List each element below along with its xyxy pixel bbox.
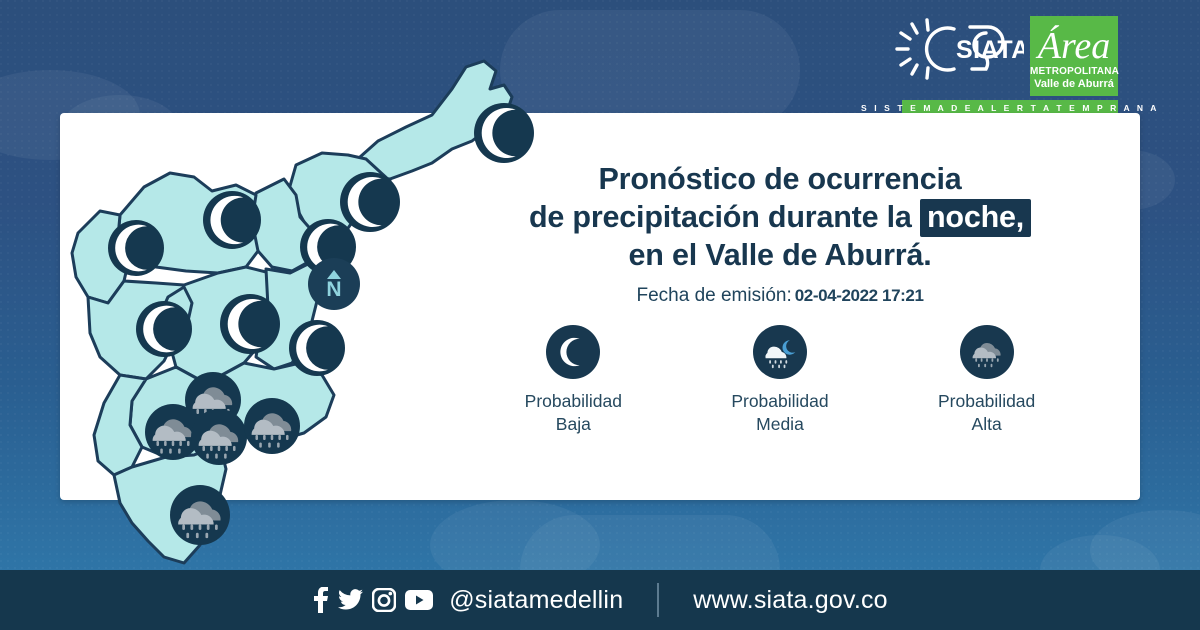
issue-date-row: Fecha de emisión:02-04-2022 17:21 bbox=[470, 285, 1090, 307]
cloud-heavy-rain-icon bbox=[244, 398, 300, 454]
legend-icon-baja bbox=[546, 325, 600, 379]
cloud-rain-moon-icon bbox=[760, 334, 800, 370]
map-marker-guarne[interactable] bbox=[289, 320, 345, 376]
facebook-icon[interactable] bbox=[312, 587, 329, 613]
cloud-heavy-rain-icon bbox=[170, 485, 230, 545]
area-script-icon: Área bbox=[1030, 18, 1118, 70]
area-line1: METROPOLITANA bbox=[1030, 66, 1118, 77]
title-highlight-noche: noche, bbox=[920, 199, 1031, 237]
background-cloud-icon bbox=[500, 10, 800, 130]
legend-label-media: Probabilidad Media bbox=[731, 390, 828, 436]
legend-label-baja-line1: Probabilidad bbox=[525, 390, 622, 413]
social-handle[interactable]: @siatamedellin bbox=[449, 586, 623, 615]
moon-icon bbox=[203, 191, 261, 249]
legend-label-baja: Probabilidad Baja bbox=[525, 390, 622, 436]
area-script-text: Área bbox=[1035, 25, 1110, 67]
twitter-icon[interactable] bbox=[338, 589, 363, 611]
map-marker-envigado[interactable] bbox=[244, 398, 300, 454]
title-line-2-text: de precipitación durante la bbox=[529, 200, 912, 234]
area-metropolitana-logo: Área METROPOLITANA Valle de Aburrá bbox=[1030, 16, 1118, 96]
moon-icon bbox=[136, 301, 192, 357]
compass-north-badge: N bbox=[308, 258, 360, 310]
title-line-1: Pronóstico de ocurrencia bbox=[470, 160, 1090, 198]
siata-logo: SIATA bbox=[892, 18, 1024, 80]
issue-date-label: Fecha de emisión: bbox=[636, 285, 791, 306]
moon-icon bbox=[556, 335, 590, 369]
map-marker-barbosa[interactable] bbox=[474, 103, 534, 163]
footer-divider bbox=[657, 583, 659, 617]
map-marker-bello-norte[interactable] bbox=[108, 220, 164, 276]
legend-label-alta-line1: Probabilidad bbox=[938, 390, 1035, 413]
youtube-icon[interactable] bbox=[405, 590, 433, 610]
legend-label-baja-line2: Baja bbox=[525, 413, 622, 436]
valle-de-aburra-map: N bbox=[60, 45, 540, 565]
infographic-root: SIATA Área METROPOLITANA Valle de Aburrá… bbox=[0, 0, 1200, 630]
map-marker-san-pedro[interactable] bbox=[203, 191, 261, 249]
probability-legend: Probabilidad Baja bbox=[470, 325, 1090, 436]
area-line2: Valle de Aburrá bbox=[1030, 78, 1118, 90]
footer-bar: @siatamedellin www.siata.gov.co bbox=[0, 570, 1200, 630]
logo-group: SIATA Área METROPOLITANA Valle de Aburrá… bbox=[892, 16, 1122, 114]
cloud-heavy-rain-icon bbox=[191, 409, 247, 465]
legend-item-media: Probabilidad Media bbox=[690, 325, 870, 436]
headline-panel: Pronóstico de ocurrencia de precipitació… bbox=[470, 160, 1090, 307]
compass-label: N bbox=[326, 280, 341, 299]
title-line-2: de precipitación durante la noche, bbox=[470, 198, 1090, 236]
map-marker-bello[interactable] bbox=[136, 301, 192, 357]
legend-label-media-line1: Probabilidad bbox=[731, 390, 828, 413]
legend-label-alta: Probabilidad Alta bbox=[938, 390, 1035, 436]
social-icons bbox=[312, 587, 433, 613]
map-marker-caldas[interactable] bbox=[170, 485, 230, 545]
legend-icon-alta bbox=[960, 325, 1014, 379]
legend-icon-media bbox=[753, 325, 807, 379]
legend-item-baja: Probabilidad Baja bbox=[483, 325, 663, 436]
moon-icon bbox=[220, 294, 280, 354]
siata-wordmark: SIATA bbox=[956, 36, 1024, 64]
map-polygons bbox=[60, 45, 540, 565]
moon-icon bbox=[108, 220, 164, 276]
map-marker-medellin[interactable] bbox=[220, 294, 280, 354]
cloud-heavy-rain-icon bbox=[967, 334, 1007, 370]
map-marker-sabaneta[interactable] bbox=[191, 409, 247, 465]
legend-label-media-line2: Media bbox=[731, 413, 828, 436]
legend-item-alta: Probabilidad Alta bbox=[897, 325, 1077, 436]
legend-label-alta-line2: Alta bbox=[938, 413, 1035, 436]
moon-icon bbox=[474, 103, 534, 163]
website-url[interactable]: www.siata.gov.co bbox=[693, 586, 887, 615]
title-line-3: en el Valle de Aburrá. bbox=[470, 236, 1090, 274]
issue-date-value: 02-04-2022 17:21 bbox=[795, 286, 924, 305]
page-title: Pronóstico de ocurrencia de precipitació… bbox=[470, 160, 1090, 274]
footer-content: @siatamedellin www.siata.gov.co bbox=[312, 583, 888, 617]
moon-icon bbox=[289, 320, 345, 376]
instagram-icon[interactable] bbox=[372, 588, 396, 612]
